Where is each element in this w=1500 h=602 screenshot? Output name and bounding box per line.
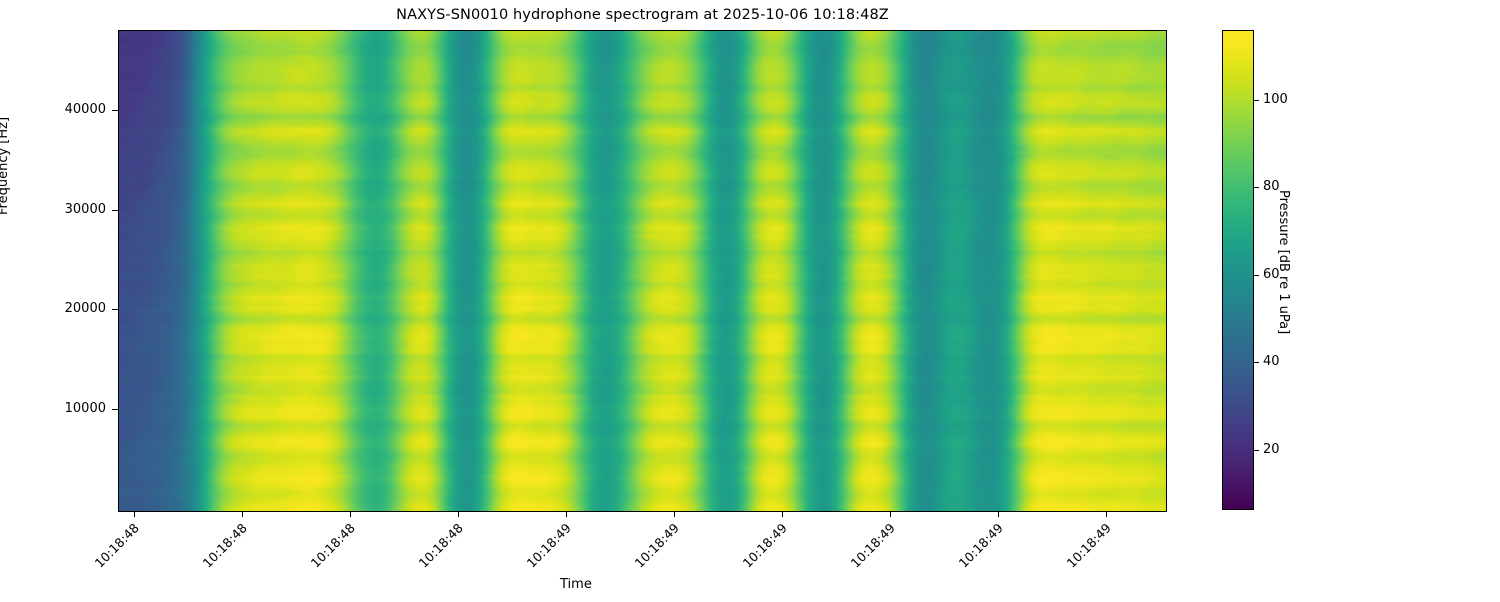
figure-canvas: NAXYS-SN0010 hydrophone spectrogram at 2… — [0, 0, 1500, 600]
y-axis-tick — [112, 210, 118, 211]
x-axis-label: Time — [560, 577, 592, 592]
y-axis-tick-label: 20000 — [50, 302, 106, 315]
x-axis-tick-label: 10:18:48 — [61, 521, 141, 601]
colorbar-tick — [1253, 187, 1259, 188]
x-axis-tick-label: 10:18:48 — [277, 521, 357, 601]
colorbar-tick — [1253, 275, 1259, 276]
y-axis-tick-label: 30000 — [50, 203, 106, 216]
x-axis-tick — [1106, 511, 1107, 517]
x-axis-tick-label: 10:18:49 — [1033, 521, 1113, 601]
x-axis-tick — [566, 511, 567, 517]
x-axis-tick — [458, 511, 459, 517]
colorbar-tick-label: 40 — [1263, 355, 1280, 368]
x-axis-tick-label: 10:18:49 — [925, 521, 1005, 601]
x-axis-tick — [134, 511, 135, 517]
x-axis-tick — [890, 511, 891, 517]
colorbar-tick-label: 100 — [1263, 93, 1288, 106]
y-axis-tick — [112, 309, 118, 310]
y-axis-tick — [112, 409, 118, 410]
spectrogram-image — [119, 31, 1166, 511]
x-axis-tick — [782, 511, 783, 517]
colorbar-gradient — [1223, 31, 1253, 509]
x-axis-tick-label: 10:18:49 — [601, 521, 681, 601]
page-title: NAXYS-SN0010 hydrophone spectrogram at 2… — [0, 7, 1285, 23]
x-axis-tick — [674, 511, 675, 517]
x-axis-tick-label: 10:18:49 — [817, 521, 897, 601]
x-axis-tick-label: 10:18:48 — [385, 521, 465, 601]
spectrogram-plot-area — [118, 30, 1167, 512]
x-axis-tick-label: 10:18:49 — [709, 521, 789, 601]
colorbar-tick — [1253, 450, 1259, 451]
colorbar-tick — [1253, 362, 1259, 363]
x-axis-tick-label: 10:18:48 — [169, 521, 249, 601]
y-axis-tick-label: 10000 — [50, 402, 106, 415]
x-axis-tick — [998, 511, 999, 517]
x-axis-tick — [350, 511, 351, 517]
colorbar — [1222, 30, 1254, 510]
y-axis-label: Frequency [Hz] — [0, 117, 11, 215]
colorbar-tick — [1253, 100, 1259, 101]
colorbar-label: Pressure [dB re 1 uPa] — [1276, 190, 1291, 334]
x-axis-tick — [242, 511, 243, 517]
y-axis-tick-label: 40000 — [50, 103, 106, 116]
y-axis-tick — [112, 110, 118, 111]
colorbar-tick-label: 20 — [1263, 443, 1280, 456]
